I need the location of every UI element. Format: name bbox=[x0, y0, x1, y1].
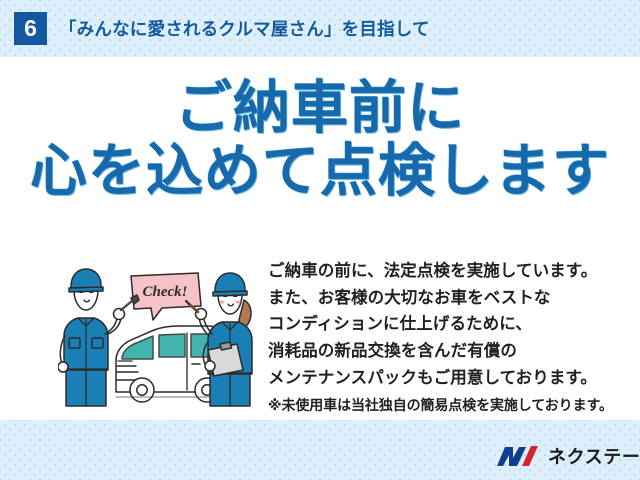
step-number-badge: 6 bbox=[14, 12, 47, 45]
brand-logo: ネクステージ bbox=[495, 443, 640, 469]
brand-name: ネクステージ bbox=[548, 443, 640, 469]
promo-card: 6 「みんなに愛されるクルマ屋さん」を目指して ご納車前に 心を込めて点検します… bbox=[0, 0, 640, 480]
body-line: コンディションに仕上げるために、 bbox=[268, 311, 618, 338]
headline-line-1: ご納車前に bbox=[0, 79, 640, 138]
body-line: メンテナンスパックもご用意しております。 bbox=[268, 365, 618, 392]
headline-line-2: 心を込めて点検します bbox=[0, 142, 640, 201]
header-band: 6 「みんなに愛されるクルマ屋さん」を目指して bbox=[0, 0, 640, 57]
body-line: また、お客様の大切なお車をベストな bbox=[268, 285, 618, 312]
speech-bubble-text: Check! bbox=[143, 284, 188, 300]
nextage-mark-icon bbox=[495, 444, 539, 469]
body-note: ※未使用車は当社独自の簡易点検を実施しております。 bbox=[268, 394, 618, 416]
mechanics-illustration: Check! bbox=[58, 264, 263, 409]
body-copy: ご納車の前に、法定点検を実施しています。 また、お客様の大切なお車をベストな コ… bbox=[268, 258, 618, 416]
content-panel: ご納車前に 心を込めて点検します ご納車の前に、法定点検を実施しています。 また… bbox=[0, 57, 640, 420]
headline: ご納車前に 心を込めて点検します bbox=[0, 79, 640, 202]
header-title: 「みんなに愛されるクルマ屋さん」を目指して bbox=[59, 16, 430, 41]
body-line: ご納車の前に、法定点検を実施しています。 bbox=[268, 258, 618, 285]
body-line: 消耗品の新品交換を含んだ有償の bbox=[268, 338, 618, 365]
